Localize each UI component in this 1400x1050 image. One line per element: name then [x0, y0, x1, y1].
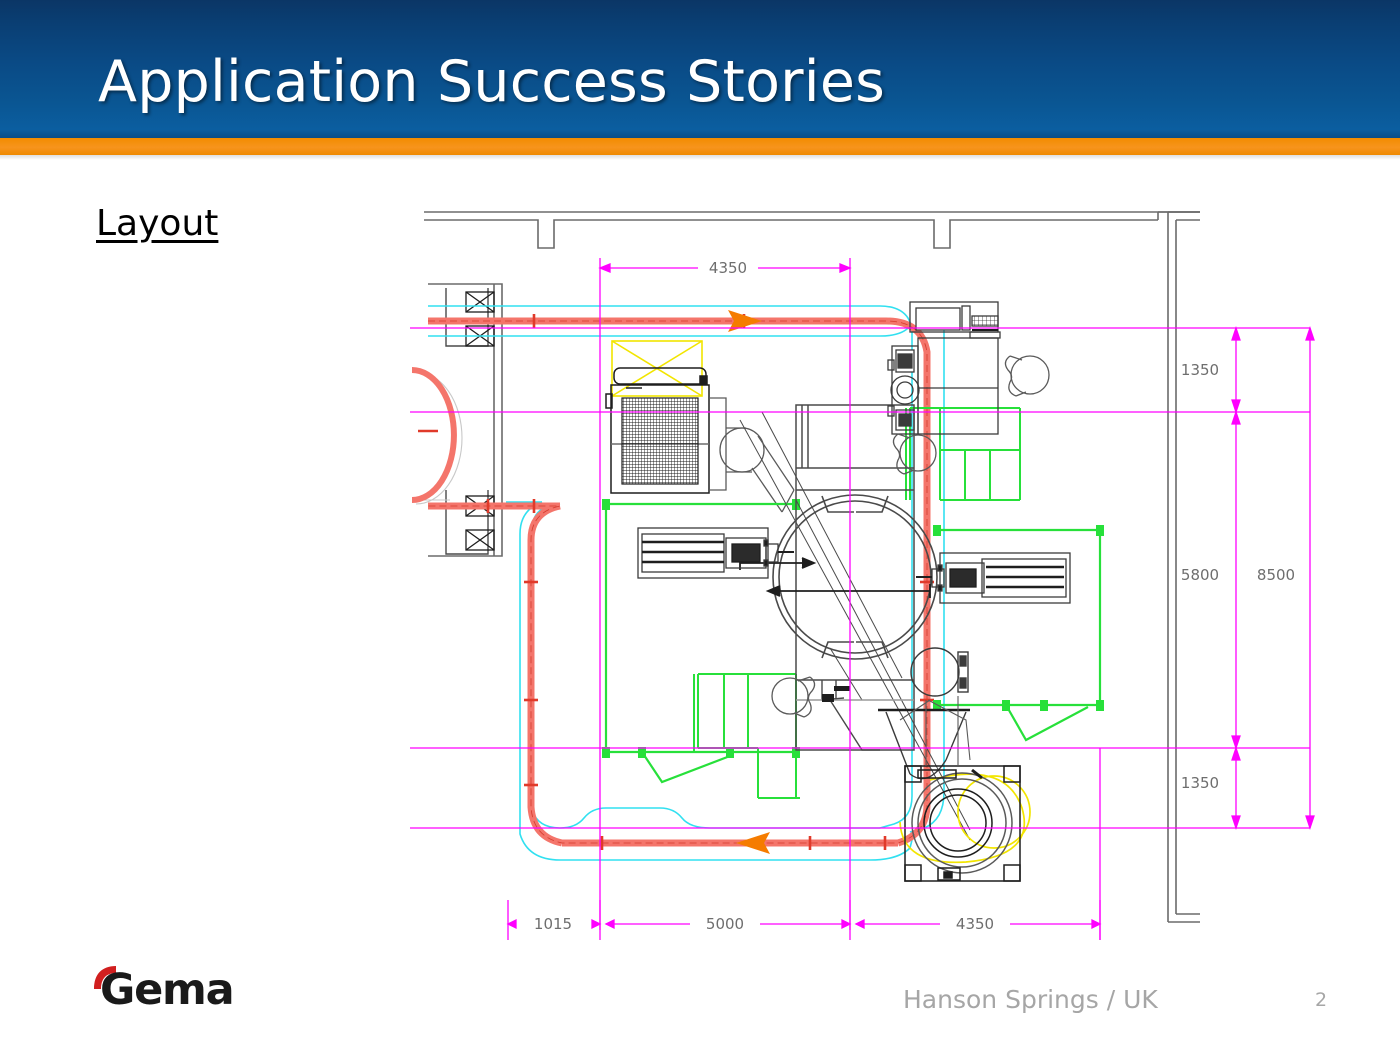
- dimension-label-bottom-1015: 1015: [534, 915, 572, 933]
- platform-stairs-lower: [694, 674, 800, 798]
- left-wall-structure: [428, 284, 502, 556]
- dimension-label-right-1350-top: 1350: [1181, 361, 1219, 379]
- gema-logo: Gema: [88, 965, 223, 1017]
- dimension-label-bottom-4350: 4350: [956, 915, 994, 933]
- control-cabinet-unit: [910, 302, 1000, 338]
- dimension-label-bottom-5000: 5000: [706, 915, 744, 933]
- dimension-label-right-1350-bottom: 1350: [1181, 774, 1219, 792]
- booth-reference-lines: [740, 412, 970, 840]
- page-title: Application Success Stories: [98, 52, 885, 112]
- reciprocator-left: [638, 528, 794, 578]
- booth-enclosure: [796, 405, 914, 750]
- dimension-label-right-5800: 5800: [1181, 566, 1219, 584]
- section-label-layout: Layout: [96, 203, 218, 244]
- conveyor-guide-envelope: [428, 306, 944, 860]
- filter-mesh-panel: [622, 398, 698, 484]
- gema-wordmark: Gema: [100, 967, 233, 1013]
- operator-symbol-upper-right: [1005, 356, 1049, 396]
- platform-stairs-upper: [906, 408, 1020, 500]
- header-accent-stripe: [0, 138, 1400, 155]
- slide-number: 2: [1315, 989, 1327, 1011]
- operator-symbol-lower-left: [772, 677, 815, 717]
- reciprocator-right: [916, 553, 1070, 603]
- footer-subtitle: Hanson Springs / UK: [903, 985, 1158, 1014]
- powder-feed-unit: [888, 338, 998, 434]
- dimension-label-top-4350: 4350: [709, 259, 747, 277]
- gun-reciprocator-axis-lower: [768, 584, 930, 598]
- plant-layout-drawing: 4350 1350 5800 1350 8500 1015 5000 4350: [410, 200, 1340, 960]
- conveyor-hanger-ticks: [488, 314, 934, 850]
- dimension-label-right-8500-total: 8500: [1257, 566, 1295, 584]
- header-accent-shadow: [0, 155, 1400, 160]
